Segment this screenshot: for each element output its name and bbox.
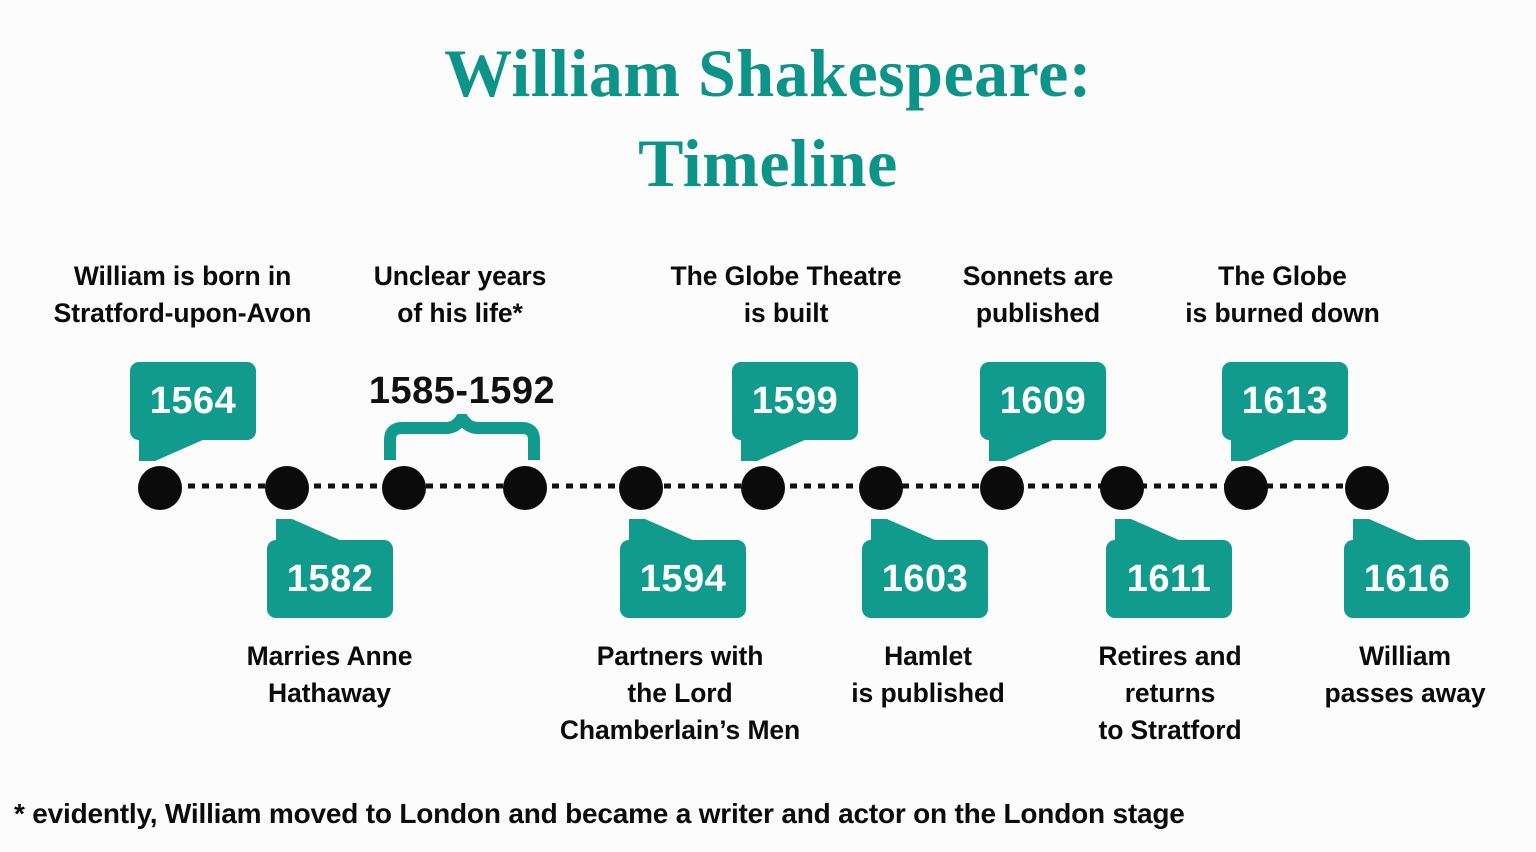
year-badge-1564-value: 1564	[150, 380, 237, 423]
timeline-dot-6[interactable]	[741, 466, 785, 510]
caption-1616-line-2: passes away	[1300, 675, 1510, 712]
range-label-1585-1592: 1585-1592	[332, 370, 592, 413]
caption-1603-line-1: Hamlet	[828, 638, 1028, 675]
title-line-2: Timeline	[0, 118, 1536, 208]
caption-1564-line-1: William is born in	[10, 258, 355, 295]
year-badge-1609-value: 1609	[1000, 380, 1087, 423]
caption-1616-line-1: William	[1300, 638, 1510, 675]
caption-1611-line-1: Retires and	[1062, 638, 1278, 675]
year-badge-1599[interactable]: 1599	[732, 362, 858, 440]
caption-1594-line-2: the Lord	[530, 675, 830, 712]
title-line-1: William Shakespeare:	[0, 28, 1536, 118]
caption-1582-line-1: Marries Anne	[207, 638, 452, 675]
caption-1609-line-2: published	[938, 295, 1138, 332]
year-badge-1613-value: 1613	[1242, 380, 1329, 423]
timeline-dot-8[interactable]	[980, 466, 1024, 510]
infographic-canvas: William Shakespeare: Timeline William is…	[0, 0, 1536, 852]
caption-1599-line-2: is built	[636, 295, 936, 332]
caption-1582: Marries Anne Hathaway	[207, 638, 452, 712]
year-badge-1594[interactable]: 1594	[620, 540, 746, 618]
year-badge-1616[interactable]: 1616	[1344, 540, 1470, 618]
timeline-dot-1[interactable]	[138, 466, 182, 510]
timeline-dot-10[interactable]	[1224, 466, 1268, 510]
timeline-dot-3[interactable]	[382, 466, 426, 510]
caption-1599-line-1: The Globe Theatre	[636, 258, 936, 295]
caption-1582-line-2: Hathaway	[207, 675, 452, 712]
year-badge-1616-value: 1616	[1364, 558, 1451, 601]
year-badge-1603-value: 1603	[882, 558, 969, 601]
brace-bracket-icon	[382, 414, 542, 460]
year-badge-1611[interactable]: 1611	[1106, 540, 1232, 618]
year-badge-1609[interactable]: 1609	[980, 362, 1106, 440]
caption-1609: Sonnets are published	[938, 258, 1138, 332]
caption-1611-line-2: returns	[1062, 675, 1278, 712]
year-badge-1582[interactable]: 1582	[267, 540, 393, 618]
caption-1613: The Globe is burned down	[1160, 258, 1405, 332]
caption-1564: William is born in Stratford-upon-Avon	[10, 258, 355, 332]
timeline-dot-7[interactable]	[859, 466, 903, 510]
year-badge-1599-value: 1599	[752, 380, 839, 423]
caption-1594: Partners with the Lord Chamberlain’s Men	[530, 638, 830, 749]
year-badge-1594-value: 1594	[640, 558, 727, 601]
timeline-dot-2[interactable]	[265, 466, 309, 510]
caption-1609-line-1: Sonnets are	[938, 258, 1138, 295]
timeline-dot-11[interactable]	[1345, 466, 1389, 510]
caption-1594-line-3: Chamberlain’s Men	[530, 712, 830, 749]
year-badge-1611-value: 1611	[1127, 558, 1211, 601]
caption-1603: Hamlet is published	[828, 638, 1028, 712]
caption-1603-line-2: is published	[828, 675, 1028, 712]
timeline-dot-5[interactable]	[619, 466, 663, 510]
caption-unclear-line-1: Unclear years	[340, 258, 580, 295]
caption-1594-line-1: Partners with	[530, 638, 830, 675]
caption-unclear-line-2: of his life*	[340, 295, 580, 332]
caption-1613-line-1: The Globe	[1160, 258, 1405, 295]
timeline-dot-9[interactable]	[1100, 466, 1144, 510]
year-badge-1582-value: 1582	[287, 558, 374, 601]
caption-unclear-years: Unclear years of his life*	[340, 258, 580, 332]
caption-1613-line-2: is burned down	[1160, 295, 1405, 332]
caption-1611: Retires and returns to Stratford	[1062, 638, 1278, 749]
caption-1599: The Globe Theatre is built	[636, 258, 936, 332]
caption-1564-line-2: Stratford-upon-Avon	[10, 295, 355, 332]
timeline-dot-4[interactable]	[503, 466, 547, 510]
year-badge-1564[interactable]: 1564	[130, 362, 256, 440]
footnote-text: * evidently, William moved to London and…	[14, 798, 1185, 830]
page-title: William Shakespeare: Timeline	[0, 28, 1536, 209]
caption-1611-line-3: to Stratford	[1062, 712, 1278, 749]
year-badge-1613[interactable]: 1613	[1222, 362, 1348, 440]
year-badge-1603[interactable]: 1603	[862, 540, 988, 618]
caption-1616: William passes away	[1300, 638, 1510, 712]
